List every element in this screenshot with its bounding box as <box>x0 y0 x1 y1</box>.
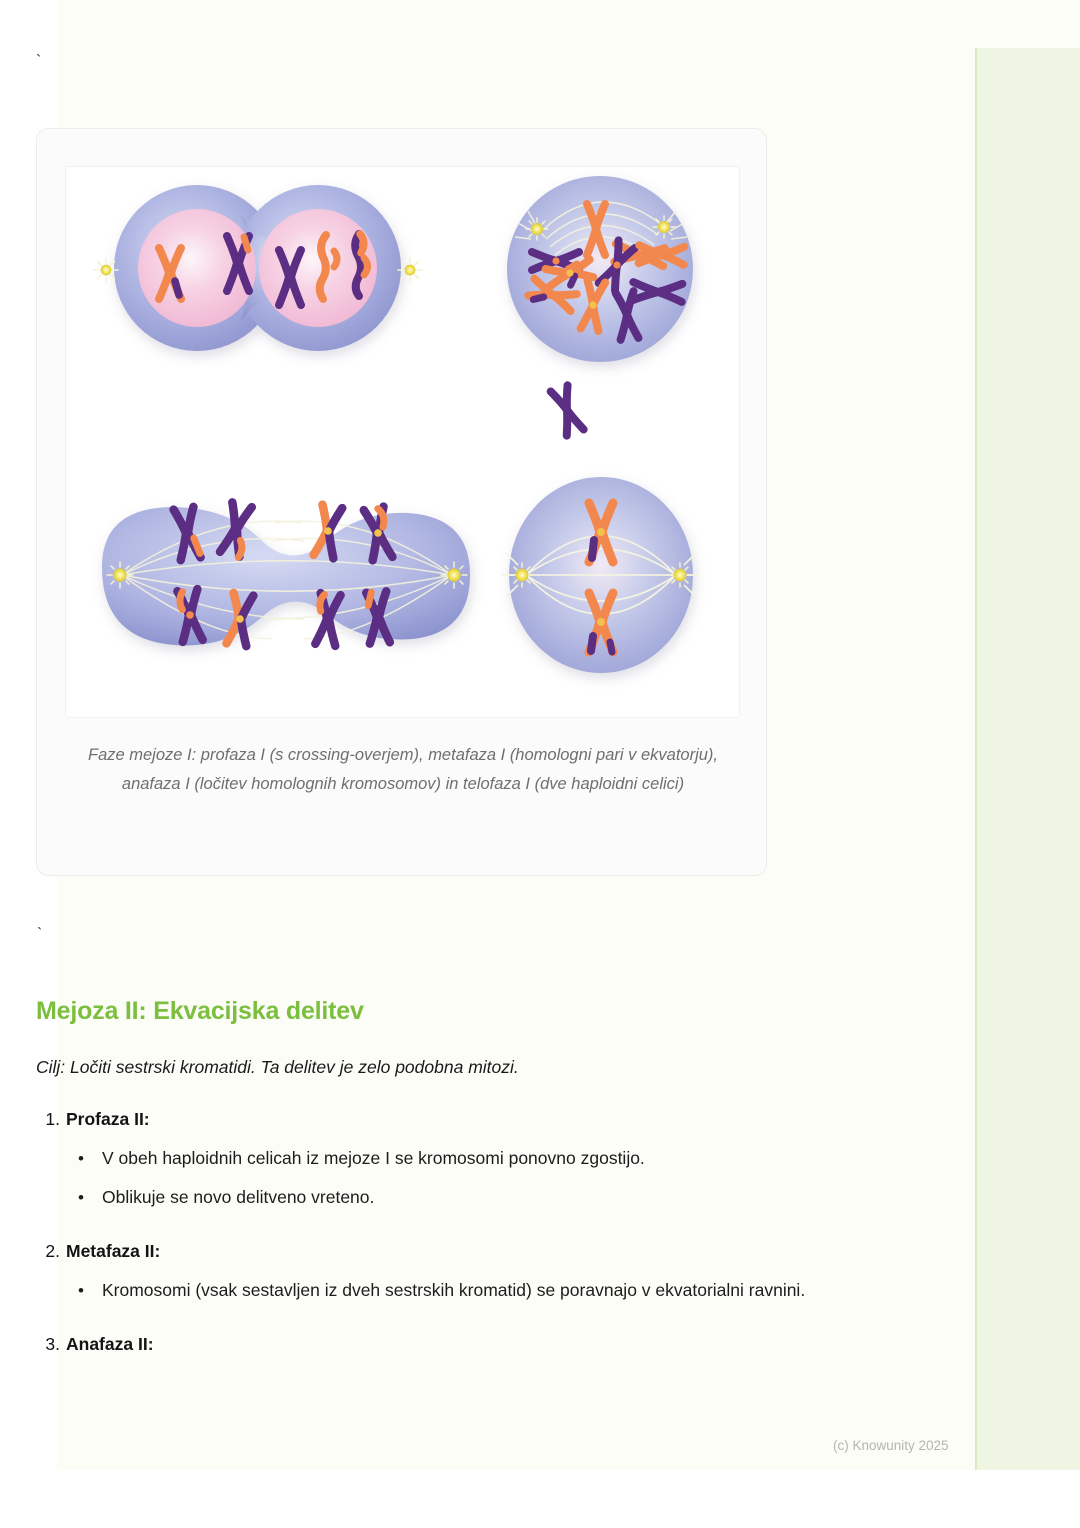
step-title-3: Anafaza II: <box>66 1334 154 1354</box>
page-root: ` <box>0 0 1080 1528</box>
list-item: • V obeh haploidnih celicah iz mejoze I … <box>36 1142 826 1175</box>
figure-card: Faze mejoze I: profaza I (s crossing-ove… <box>36 128 767 876</box>
panel-metafaza-i <box>502 477 700 673</box>
bullet-icon: • <box>78 1142 84 1175</box>
list-item: • Oblikuje se novo delitveno vreteno. <box>36 1181 826 1214</box>
bullet-text: V obeh haploidnih celicah iz mejoze I se… <box>102 1148 645 1168</box>
panel-telofaza-i <box>94 185 422 351</box>
meiosis-diagram <box>65 166 740 718</box>
list-item: • Kromosomi (vsak sestavljen iz dveh ses… <box>36 1274 826 1307</box>
step-header-1: 1. Profaza II: <box>36 1104 826 1134</box>
step-number-2: 2. <box>36 1236 60 1266</box>
step-item-2: 2. Metafaza II: • Kromosomi (vsak sestav… <box>36 1236 826 1307</box>
step-number-1: 1. <box>36 1104 60 1134</box>
figure-caption: Faze mejoze I: profaza I (s crossing-ove… <box>71 741 735 799</box>
steps-list: 1. Profaza II: • V obeh haploidnih celic… <box>36 1104 826 1363</box>
backtick-marker-top: ` <box>36 54 41 70</box>
section-heading: Mejoza II: Ekvacijska delitev <box>36 997 364 1026</box>
panel-profaza-i <box>507 176 693 436</box>
step-item-3: 3. Anafaza II: <box>36 1329 826 1359</box>
step-title-2: Metafaza II: <box>66 1241 160 1261</box>
backtick-marker-middle: ` <box>37 927 42 943</box>
meiosis-diagram-svg <box>66 167 740 718</box>
document-content: ` <box>0 0 1023 1470</box>
bullet-text: Oblikuje se novo delitveno vreteno. <box>102 1187 374 1207</box>
step-bullets-2: • Kromosomi (vsak sestavljen iz dveh ses… <box>36 1274 826 1307</box>
step-header-2: 2. Metafaza II: <box>36 1236 826 1266</box>
step-item-1: 1. Profaza II: • V obeh haploidnih celic… <box>36 1104 826 1214</box>
section-goal-text: Cilj: Ločiti sestrski kromatidi. Ta deli… <box>36 1054 736 1080</box>
step-title-1: Profaza II: <box>66 1109 150 1129</box>
bullet-icon: • <box>78 1274 84 1307</box>
step-number-3: 3. <box>36 1329 60 1359</box>
bullet-text: Kromosomi (vsak sestavljen iz dveh sestr… <box>102 1280 805 1300</box>
panel-anafaza-i <box>102 502 470 646</box>
step-header-3: 3. Anafaza II: <box>36 1329 826 1359</box>
step-bullets-1: • V obeh haploidnih celicah iz mejoze I … <box>36 1142 826 1214</box>
footer-credit: (c) Knowunity 2025 <box>833 1438 949 1453</box>
bullet-icon: • <box>78 1181 84 1214</box>
